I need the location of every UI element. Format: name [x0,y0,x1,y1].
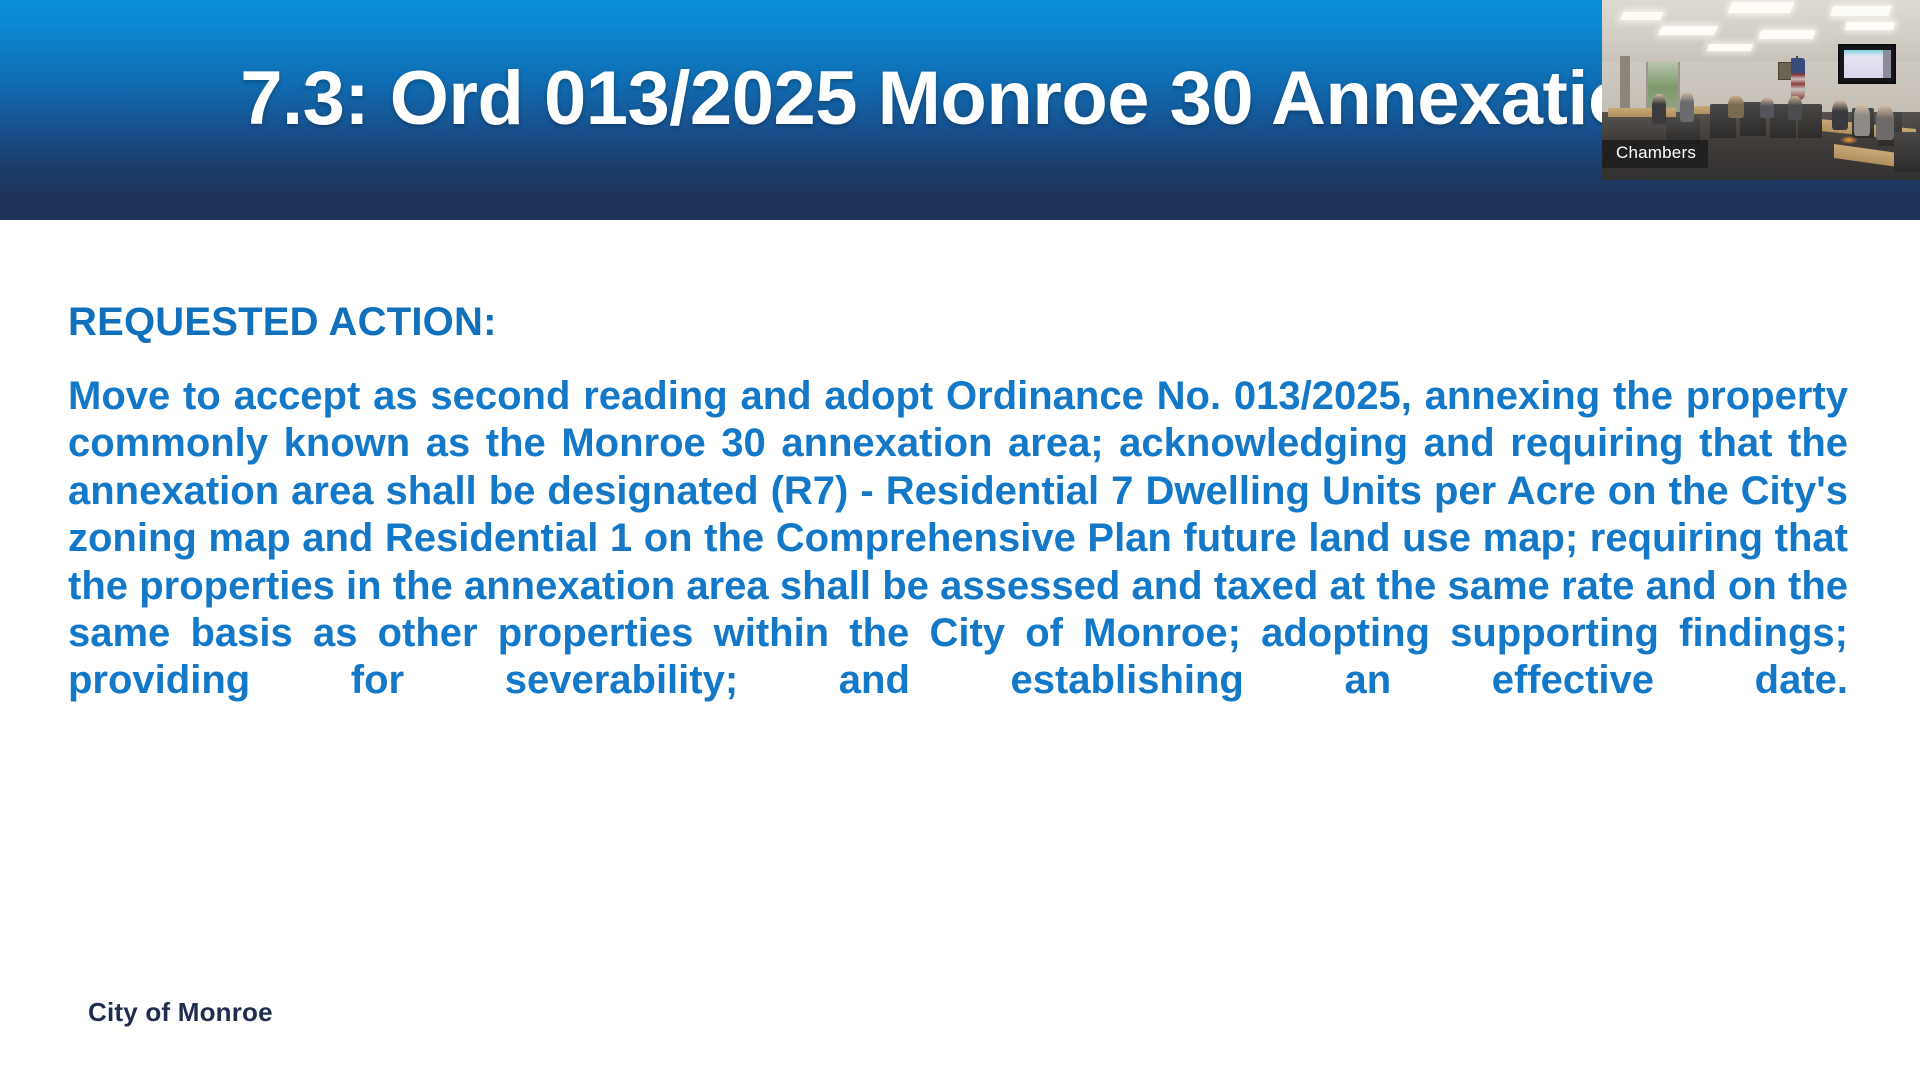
presentation-slide: 7.3: Ord 013/2025 Monroe 30 Annexation [0,0,1920,1080]
person [1652,94,1666,124]
requested-action-heading: REQUESTED ACTION: [68,300,1852,345]
video-pip-overlay[interactable]: Chambers [1602,0,1920,180]
footer-brand-label: City of Monroe [88,997,273,1028]
person [1728,96,1744,118]
requested-action-body: Move to accept as second reading and ado… [68,373,1848,752]
american-flag [1791,58,1805,100]
video-source-label: Chambers [1602,140,1708,168]
person [1832,100,1848,130]
slide-content: REQUESTED ACTION: Move to accept as seco… [68,300,1852,752]
person [1760,98,1774,118]
ceiling-light [1845,22,1895,30]
ceiling-light [1759,30,1816,39]
ceiling-light [1831,6,1892,16]
desk-lamp-glow [1840,136,1858,144]
person [1788,96,1802,120]
ceiling-light [1728,2,1794,13]
person [1680,92,1694,122]
wall-display-screen [1838,44,1896,84]
ceiling-light [1658,26,1718,35]
chair [1894,132,1920,172]
display-screen-sidebar [1883,50,1891,78]
ceiling-light [1707,44,1753,51]
ceiling-light [1620,12,1665,20]
person [1876,106,1894,140]
person [1854,104,1870,136]
